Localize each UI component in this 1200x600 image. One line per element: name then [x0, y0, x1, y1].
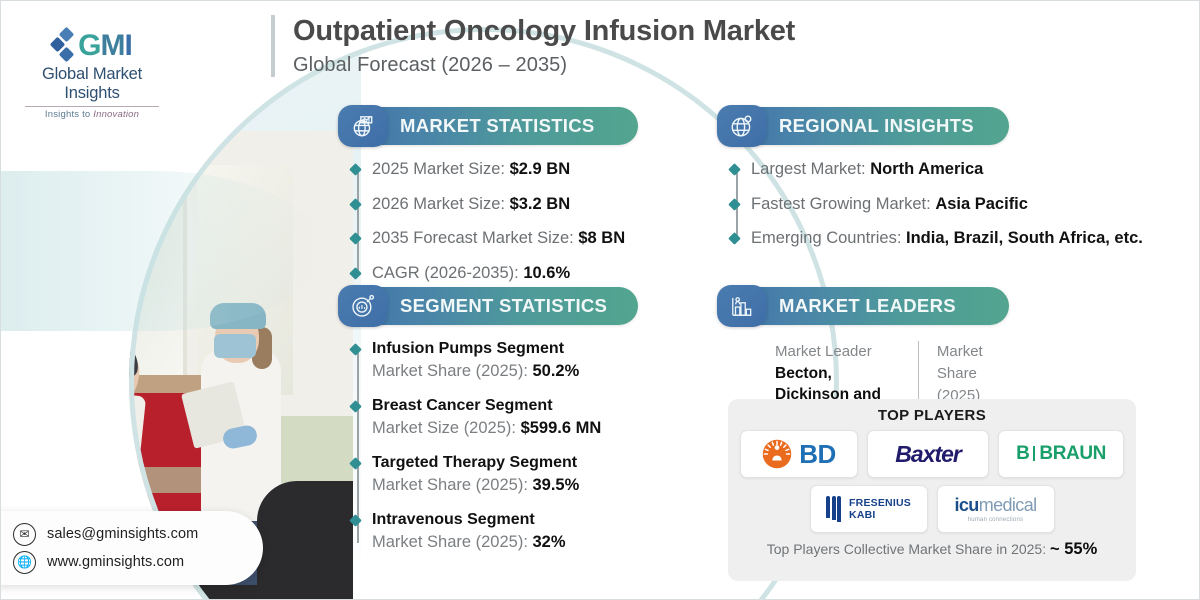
- globe-pin-icon: [717, 105, 767, 147]
- player-name-fresenius: FRESENIUS: [849, 497, 911, 509]
- stat-label: 2026 Market Size:: [372, 195, 510, 213]
- page-subtitle: Global Forecast (2026 – 2035): [293, 54, 795, 77]
- logo-letter-g: G: [78, 29, 100, 62]
- stat-value: $2.9 BN: [510, 160, 571, 178]
- market-statistics-pill[interactable]: MARKET STATISTICS: [338, 107, 638, 145]
- list-item: 2035 Forecast Market Size: $8 BN: [372, 228, 638, 249]
- list-item: Emerging Countries: India, Brazil, South…: [751, 228, 1009, 249]
- stat-label: CAGR (2026-2035):: [372, 264, 523, 282]
- photo-iv-bag: [11, 243, 25, 279]
- contact-website: www.gminsights.com: [47, 554, 184, 570]
- top-players-footnote: Top Players Collective Market Share in 2…: [740, 540, 1124, 559]
- segment-metric-label: Market Share (2025):: [372, 362, 533, 380]
- logo-tagline-a: Insights to: [45, 109, 93, 120]
- list-item: Infusion Pumps Segment Market Share (202…: [372, 339, 638, 382]
- footnote-value: ~ 55%: [1050, 540, 1097, 558]
- segment-title: Breast Cancer Segment: [372, 396, 638, 417]
- list-item: CAGR (2026-2035): 10.6%: [372, 263, 638, 284]
- globe-chart-icon: [338, 105, 388, 147]
- player-logo-baxter[interactable]: Baxter: [867, 430, 989, 478]
- top-players-title: TOP PLAYERS: [740, 407, 1124, 424]
- segment-metric-value: 32%: [533, 533, 566, 551]
- bullet-diamond-icon: [728, 163, 741, 176]
- regional-insights-label: REGIONAL INSIGHTS: [779, 115, 974, 137]
- list-item: Targeted Therapy Segment Market Share (2…: [372, 453, 638, 496]
- segment-statistics-label: SEGMENT STATISTICS: [400, 295, 607, 317]
- podium-chart-icon: [717, 285, 767, 327]
- list-item: 2026 Market Size: $3.2 BN: [372, 194, 638, 215]
- player-name-medical: medical: [979, 495, 1037, 515]
- list-item: Largest Market: North America: [751, 159, 1009, 180]
- bullet-diamond-icon: [349, 400, 362, 413]
- envelope-icon: ✉: [13, 523, 36, 546]
- gmi-diamonds-icon: [52, 29, 74, 63]
- contact-email: sales@gminsights.com: [47, 526, 198, 542]
- stat-label: 2025 Market Size:: [372, 160, 510, 178]
- list-item: 2025 Market Size: $2.9 BN: [372, 159, 638, 180]
- market-share-caption: Market Share (2025): [937, 341, 1009, 406]
- list-item: Intravenous Segment Market Share (2025):…: [372, 510, 638, 553]
- regional-insights-list: Largest Market: North America Fastest Gr…: [717, 159, 1009, 249]
- region-value: India, Brazil, South Africa, etc.: [906, 229, 1143, 247]
- bullet-diamond-icon: [349, 343, 362, 356]
- bd-sunburst-icon: [762, 439, 792, 469]
- region-label: Emerging Countries:: [751, 229, 906, 247]
- segment-metric-label: Market Size (2025):: [372, 419, 521, 437]
- top-players-panel: TOP PLAYERS: [728, 399, 1136, 581]
- region-value: Asia Pacific: [935, 195, 1028, 213]
- segment-metric-value: 50.2%: [533, 362, 580, 380]
- regional-insights-pill[interactable]: REGIONAL INSIGHTS: [717, 107, 1009, 145]
- player-name-bd: BD: [799, 439, 836, 470]
- logo-tagline: Insights to Innovation: [17, 109, 167, 120]
- bullet-diamond-icon: [349, 457, 362, 470]
- market-statistics-list: 2025 Market Size: $2.9 BN 2026 Market Si…: [338, 159, 638, 284]
- segment-statistics-pill[interactable]: SEGMENT STATISTICS: [338, 287, 638, 325]
- contact-card: ✉ sales@gminsights.com 🌐 www.gminsights.…: [0, 511, 263, 585]
- contact-email-row[interactable]: ✉ sales@gminsights.com: [13, 520, 263, 548]
- list-connector-line: [357, 347, 359, 543]
- market-leaders-label: MARKET LEADERS: [779, 295, 956, 317]
- right-edge-arc: [1143, 93, 1200, 283]
- list-connector-line: [357, 167, 359, 274]
- segment-title: Intravenous Segment: [372, 510, 638, 531]
- contact-website-row[interactable]: 🌐 www.gminsights.com: [13, 548, 263, 576]
- stat-value: $8 BN: [578, 229, 625, 247]
- page-title-block: Outpatient Oncology Infusion Market Glob…: [271, 15, 795, 77]
- stat-value: 10.6%: [523, 264, 570, 282]
- logo-tagline-b: Innovation: [93, 109, 139, 120]
- bullet-diamond-icon: [349, 267, 362, 280]
- bullet-diamond-icon: [349, 514, 362, 527]
- segment-title: Targeted Therapy Segment: [372, 453, 638, 474]
- gmi-logo: GMI Global Market Insights Insights to I…: [17, 29, 167, 120]
- logo-letter-m: M: [101, 29, 125, 62]
- player-name-icu: icu: [954, 495, 978, 515]
- logo-company-name: Global Market Insights: [17, 65, 167, 103]
- market-leaders-pill[interactable]: MARKET LEADERS: [717, 287, 1009, 325]
- braun-divider-icon: [1033, 446, 1035, 461]
- region-value: North America: [870, 160, 983, 178]
- page-title: Outpatient Oncology Infusion Market: [293, 15, 795, 48]
- player-name-braun-b: B: [1016, 443, 1029, 464]
- top-players-row-2: FRESENIUS KABI icumedical human connecti…: [740, 485, 1124, 533]
- segment-metric-value: 39.5%: [533, 476, 580, 494]
- market-statistics-label: MARKET STATISTICS: [400, 115, 595, 137]
- bullet-diamond-icon: [728, 232, 741, 245]
- section-regional-insights: REGIONAL INSIGHTS Largest Market: North …: [717, 107, 1009, 249]
- stat-value: $3.2 BN: [510, 195, 571, 213]
- top-players-row-1: BD Baxter BBRAUN: [740, 430, 1124, 478]
- player-logo-fresenius-kabi[interactable]: FRESENIUS KABI: [810, 485, 928, 533]
- photo-nurse-cap: [210, 303, 266, 329]
- target-chart-icon: [338, 285, 388, 327]
- photo-nurse-mask: [214, 334, 256, 358]
- infographic-canvas: GMI Global Market Insights Insights to I…: [0, 0, 1200, 600]
- segment-metric-label: Market Share (2025):: [372, 533, 533, 551]
- photo-iv-pole-hook: [9, 217, 43, 245]
- player-logo-bbraun[interactable]: BBRAUN: [998, 430, 1124, 478]
- player-logo-icu-medical[interactable]: icumedical human connections: [937, 485, 1055, 533]
- player-name-kabi: KABI: [849, 509, 911, 521]
- fresenius-wave-icon: [826, 496, 841, 522]
- logo-letter-i: I: [125, 29, 132, 62]
- region-label: Largest Market:: [751, 160, 870, 178]
- stat-label: 2035 Forecast Market Size:: [372, 229, 578, 247]
- logo-divider: [25, 106, 159, 107]
- region-label: Fastest Growing Market:: [751, 195, 935, 213]
- player-name-baxter: Baxter: [895, 441, 961, 468]
- bullet-diamond-icon: [728, 198, 741, 211]
- player-logo-bd[interactable]: BD: [740, 430, 858, 478]
- section-segment-statistics: SEGMENT STATISTICS Infusion Pumps Segmen…: [338, 287, 638, 567]
- market-leader-caption: Market Leader: [775, 341, 902, 363]
- globe-icon: 🌐: [13, 551, 36, 574]
- section-market-statistics: MARKET STATISTICS 2025 Market Size: $2.9…: [338, 107, 638, 284]
- bullet-diamond-icon: [349, 232, 362, 245]
- segment-metric-label: Market Share (2025):: [372, 476, 533, 494]
- player-name-braun: BRAUN: [1039, 443, 1106, 464]
- bullet-diamond-icon: [349, 163, 362, 176]
- footnote-label: Top Players Collective Market Share in 2…: [767, 541, 1050, 557]
- segment-title: Infusion Pumps Segment: [372, 339, 638, 360]
- list-item: Fastest Growing Market: Asia Pacific: [751, 194, 1009, 215]
- segment-metric-value: $599.6 MN: [521, 419, 602, 437]
- bullet-diamond-icon: [349, 198, 362, 211]
- segment-statistics-list: Infusion Pumps Segment Market Share (202…: [338, 339, 638, 553]
- player-tagline-icu: human connections: [954, 517, 1036, 523]
- list-item: Breast Cancer Segment Market Size (2025)…: [372, 396, 638, 439]
